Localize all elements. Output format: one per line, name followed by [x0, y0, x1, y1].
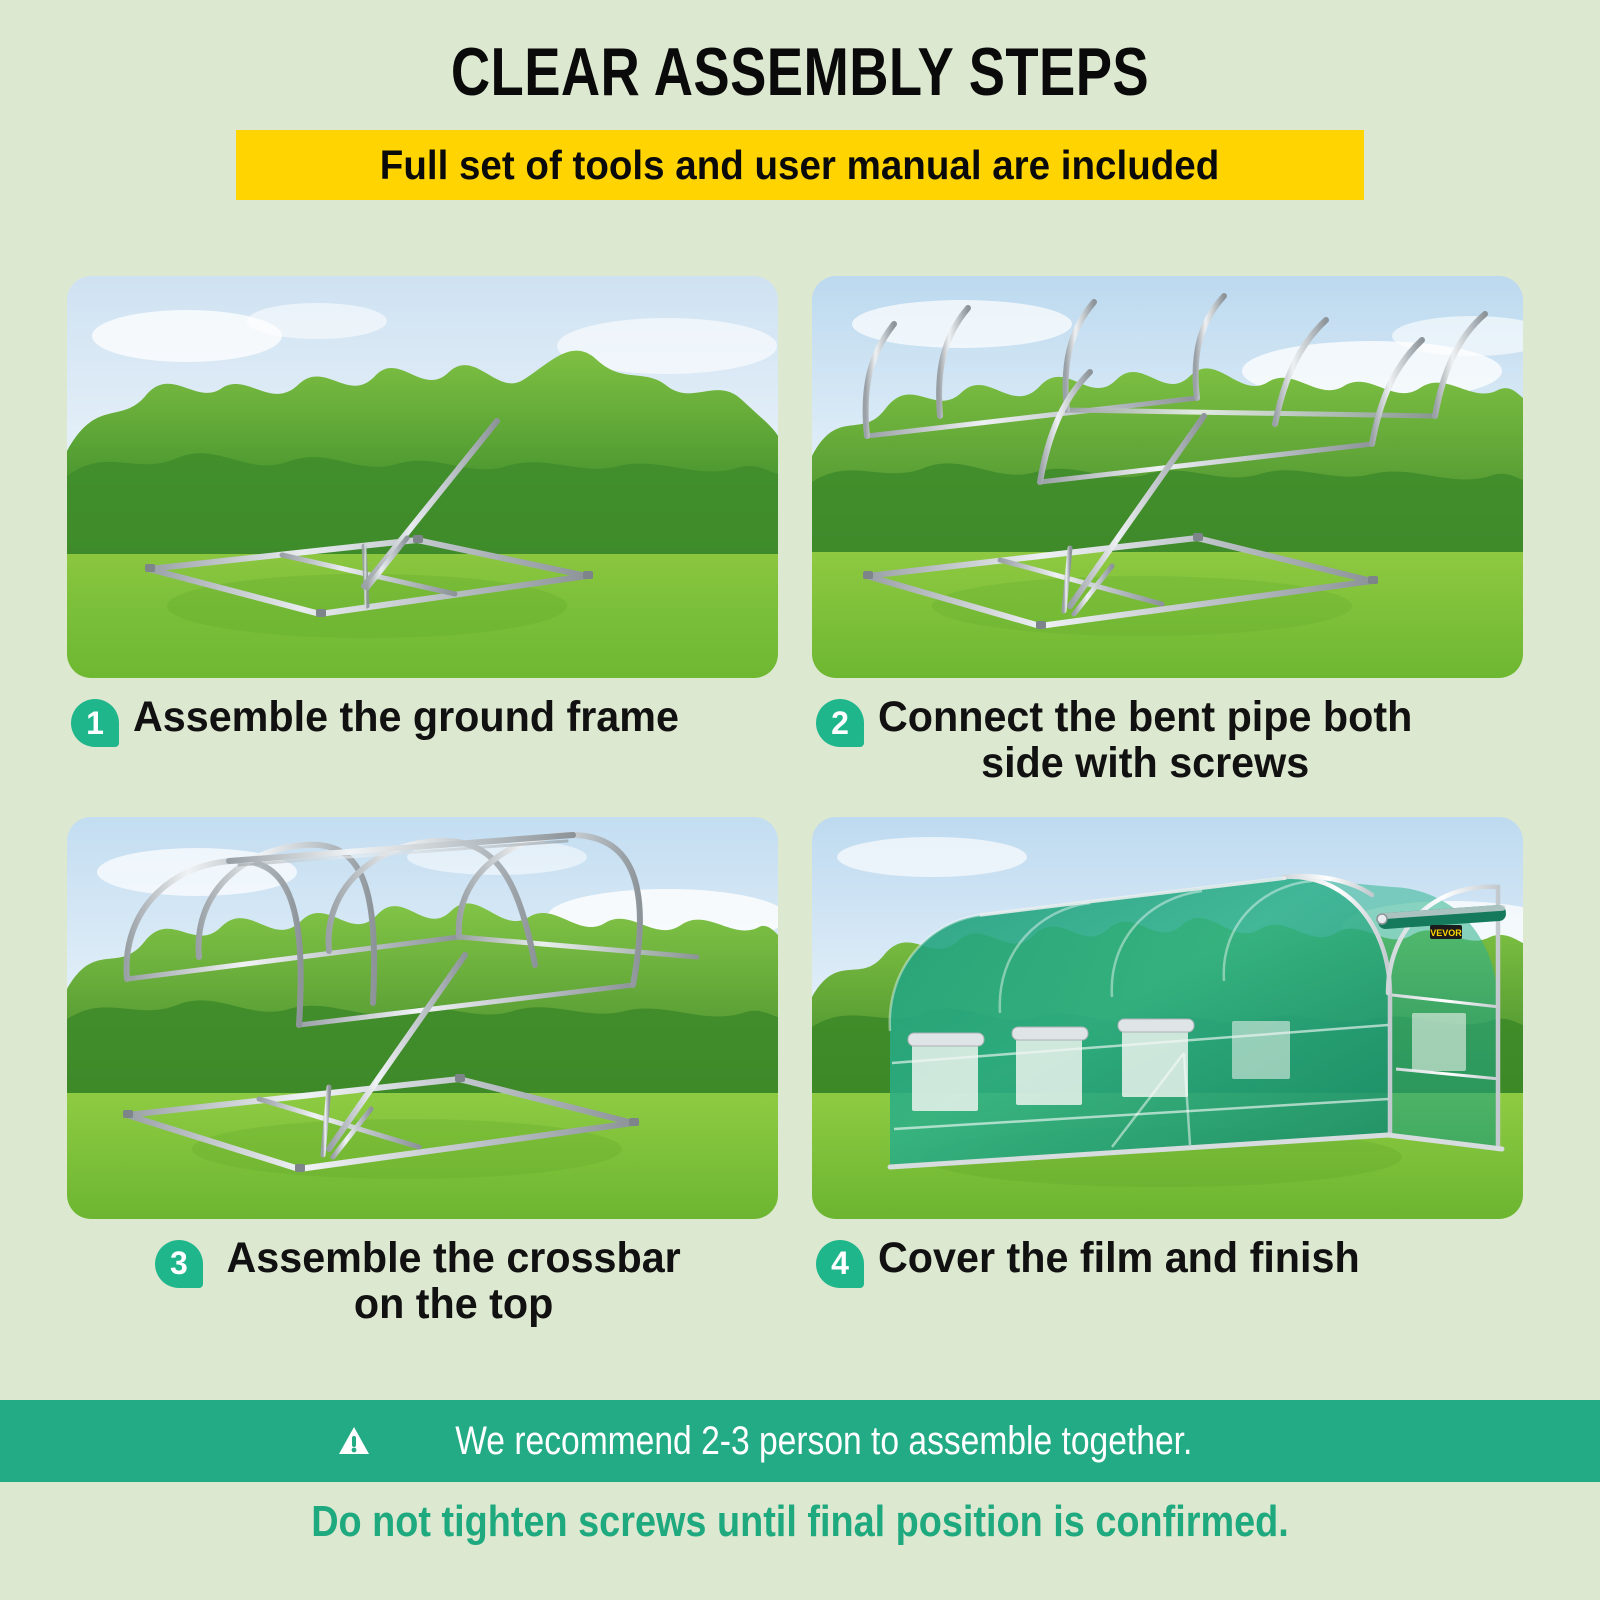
step-3-photo: [67, 817, 778, 1219]
step-number-badge-2: 2: [816, 699, 864, 747]
step-1-caption: 1 Assemble the ground frame: [67, 694, 778, 747]
step-2-caption-line1: Connect the bent pipe both: [878, 693, 1412, 741]
step-4-caption-text: Cover the film and finish: [878, 1235, 1360, 1281]
step-2-photo: [812, 276, 1523, 678]
step-4-caption: 4 Cover the film and finish: [812, 1235, 1523, 1288]
step-1-photo: [67, 276, 778, 678]
banner-label: Full set of tools and user manual are in…: [380, 142, 1219, 189]
step-3-caption-text: Assemble the crossbar on the top: [226, 1235, 680, 1328]
step-1-caption-text: Assemble the ground frame: [133, 694, 679, 740]
tools-included-banner: Full set of tools and user manual are in…: [236, 130, 1364, 200]
step-3-caption: 3 Assemble the crossbar on the top: [67, 1235, 778, 1328]
recommendation-bar: We recommend 2-3 person to assemble toge…: [0, 1400, 1600, 1482]
step-4-photo: VEVOR: [812, 817, 1523, 1219]
step-number-badge-1: 1: [71, 699, 119, 747]
brand-badge-text: VEVOR: [1430, 928, 1462, 938]
steps-row-1: 1 Assemble the ground frame: [67, 276, 1533, 787]
step-2-caption-text: Connect the bent pipe both side with scr…: [878, 694, 1412, 787]
step-card-3: 3 Assemble the crossbar on the top: [67, 817, 778, 1328]
step-card-4: VEVOR 4 Cover the film and finish: [812, 817, 1523, 1328]
assembly-steps-grid: 1 Assemble the ground frame: [67, 276, 1533, 1328]
warning-triangle-icon: [337, 1424, 371, 1458]
step-3-caption-line1: Assemble the crossbar: [226, 1234, 680, 1282]
step-number-badge-4: 4: [816, 1240, 864, 1288]
screws-note-text: Do not tighten screws until final positi…: [112, 1497, 1488, 1547]
step-card-1: 1 Assemble the ground frame: [67, 276, 778, 787]
step-2-caption-line2: side with screws: [878, 740, 1412, 786]
header: CLEAR ASSEMBLY STEPS Full set of tools a…: [0, 0, 1600, 200]
step-2-caption: 2 Connect the bent pipe both side with s…: [812, 694, 1523, 787]
page-title: CLEAR ASSEMBLY STEPS: [160, 38, 1440, 106]
recommendation-text: We recommend 2-3 person to assemble toge…: [455, 1419, 1192, 1464]
step-number-badge-3: 3: [155, 1240, 203, 1288]
step-card-2: 2 Connect the bent pipe both side with s…: [812, 276, 1523, 787]
steps-row-2: 3 Assemble the crossbar on the top: [67, 817, 1533, 1328]
step-4-caption-line1: Cover the film and finish: [878, 1234, 1360, 1282]
step-1-caption-line1: Assemble the ground frame: [133, 693, 679, 741]
step-3-caption-line2: on the top: [226, 1281, 680, 1327]
